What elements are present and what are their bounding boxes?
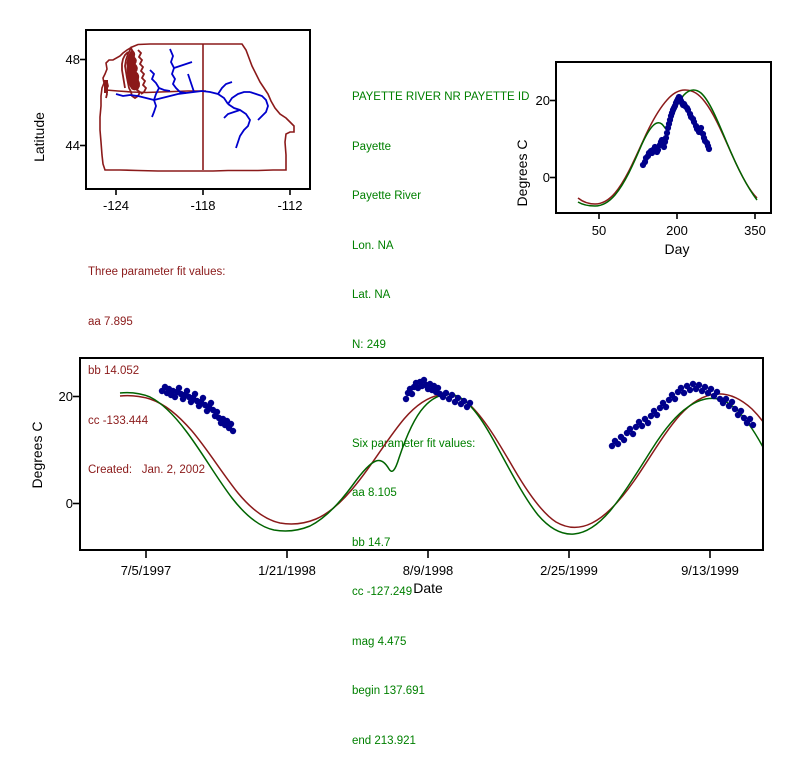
doy-three-param-curve [578,90,757,204]
main-xtick-2: 8/9/1998 [403,563,454,578]
station-city: Payette [352,139,529,156]
main-xtick-3: 2/25/1999 [540,563,598,578]
three-param-aa: aa 7.895 [88,314,225,331]
doy-xtick-350: 350 [744,223,766,238]
main-observation-points [159,377,756,449]
date-series-plot: Degrees C 20 0 7/5/1997 1/21/1998 8/9/19… [10,345,792,605]
main-xlabel: Date [413,580,443,596]
doy-ytick-0: 0 [543,170,550,185]
estuary-marker [104,80,108,93]
map-ytick-44: 44 [66,138,80,153]
map-ylabel: Latitude [31,112,47,162]
doy-xtick-50: 50 [592,223,606,238]
puget-sound-fill [127,50,140,90]
doy-xtick-200: 200 [666,223,688,238]
doy-xlabel: Day [665,241,690,257]
main-xtick-4: 9/13/1999 [681,563,739,578]
map-xtick-118: -118 [190,198,215,213]
rivers [116,49,268,148]
station-river: Payette River [352,188,529,205]
map-xtick-112: -112 [277,198,302,213]
main-ylabel: Degrees C [29,422,45,489]
day-of-year-plot: Degrees C 20 0 50 200 350 Day [505,45,792,265]
station-lat: Lat. NA [352,287,529,304]
map-xtick-124: -124 [103,198,129,213]
main-xtick-0: 7/5/1997 [121,563,172,578]
station-name: PAYETTE RIVER NR PAYETTE ID [352,89,529,106]
doy-ylabel: Degrees C [514,140,530,207]
six-param-begin: begin 137.691 [352,683,529,700]
doy-six-param-curve [578,90,757,206]
doy-observation-points [640,94,712,168]
six-param-mag: mag 4.475 [352,634,529,651]
six-param-end: end 213.921 [352,733,529,750]
map-panel: Latitude 48 44 -124 -118 -112 [28,22,318,227]
main-xtick-1: 1/21/1998 [258,563,316,578]
main-ytick-0: 0 [66,496,73,511]
doy-ytick-20: 20 [536,93,550,108]
three-param-header: Three parameter fit values: [88,264,225,281]
main-ytick-20: 20 [59,389,73,404]
map-ytick-48: 48 [66,52,80,67]
station-lon: Lon. NA [352,238,529,255]
